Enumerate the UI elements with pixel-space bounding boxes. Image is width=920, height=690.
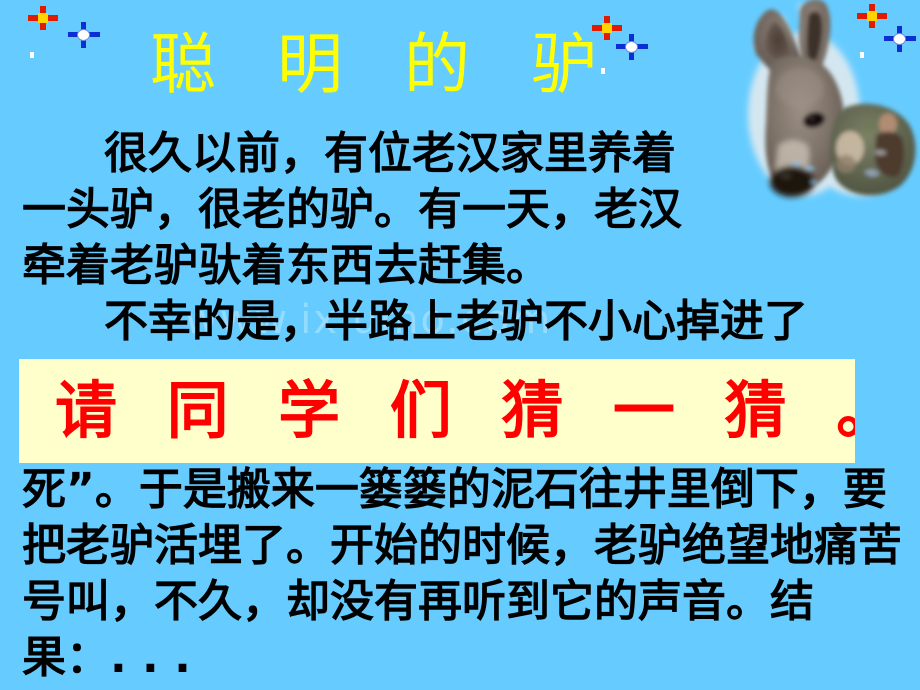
donkey-photo xyxy=(742,0,920,242)
question-callout-box[interactable]: 请 同 学 们 猜 一 猜 。 xyxy=(19,359,855,463)
speck-dot xyxy=(860,52,864,58)
sparkle-core xyxy=(38,13,48,23)
sparkle-core xyxy=(78,30,89,40)
sparkle-arm-horizontal xyxy=(616,44,648,49)
story-paragraph-1: 很久以前，有位老汉家里养着一头驴，很老的驴。有一天，老汉牵着老驴驮着东西去赶集。 xyxy=(22,126,712,294)
sparkle-core xyxy=(867,11,877,21)
sparkle-arm-vertical xyxy=(40,6,46,30)
sparkle-core xyxy=(626,42,637,52)
question-callout-text: 请 同 学 们 猜 一 猜 。 xyxy=(19,375,855,447)
sparkle-core xyxy=(894,34,905,44)
sparkle-arm-horizontal xyxy=(68,32,100,37)
sparkle-arm-horizontal xyxy=(884,36,916,41)
presentation-slide: 聪 明 的 驴 很久以前，有位老汉家里养着一头驴，很老的驴。有一天，老汉牵着老驴… xyxy=(0,0,920,690)
slide-title: 聪 明 的 驴 xyxy=(150,26,617,104)
story-paragraph-3: 死”。于是搬来一篓篓的泥石往井里倒下，要把老驴活埋了。开始的时候，老驴绝望地痛苦… xyxy=(22,462,912,686)
sparkle-arm-vertical xyxy=(897,26,902,52)
sparkle-arm-vertical xyxy=(629,34,634,60)
sparkle-arm-vertical xyxy=(81,22,86,48)
sparkle-arm-vertical xyxy=(869,4,875,28)
speck-dot xyxy=(30,52,34,58)
story-paragraph-2: 不幸的是，半路上老驴不小心掉进了 xyxy=(22,294,902,350)
sparkle-arm-horizontal xyxy=(857,13,887,19)
sparkle-arm-horizontal xyxy=(28,15,58,21)
